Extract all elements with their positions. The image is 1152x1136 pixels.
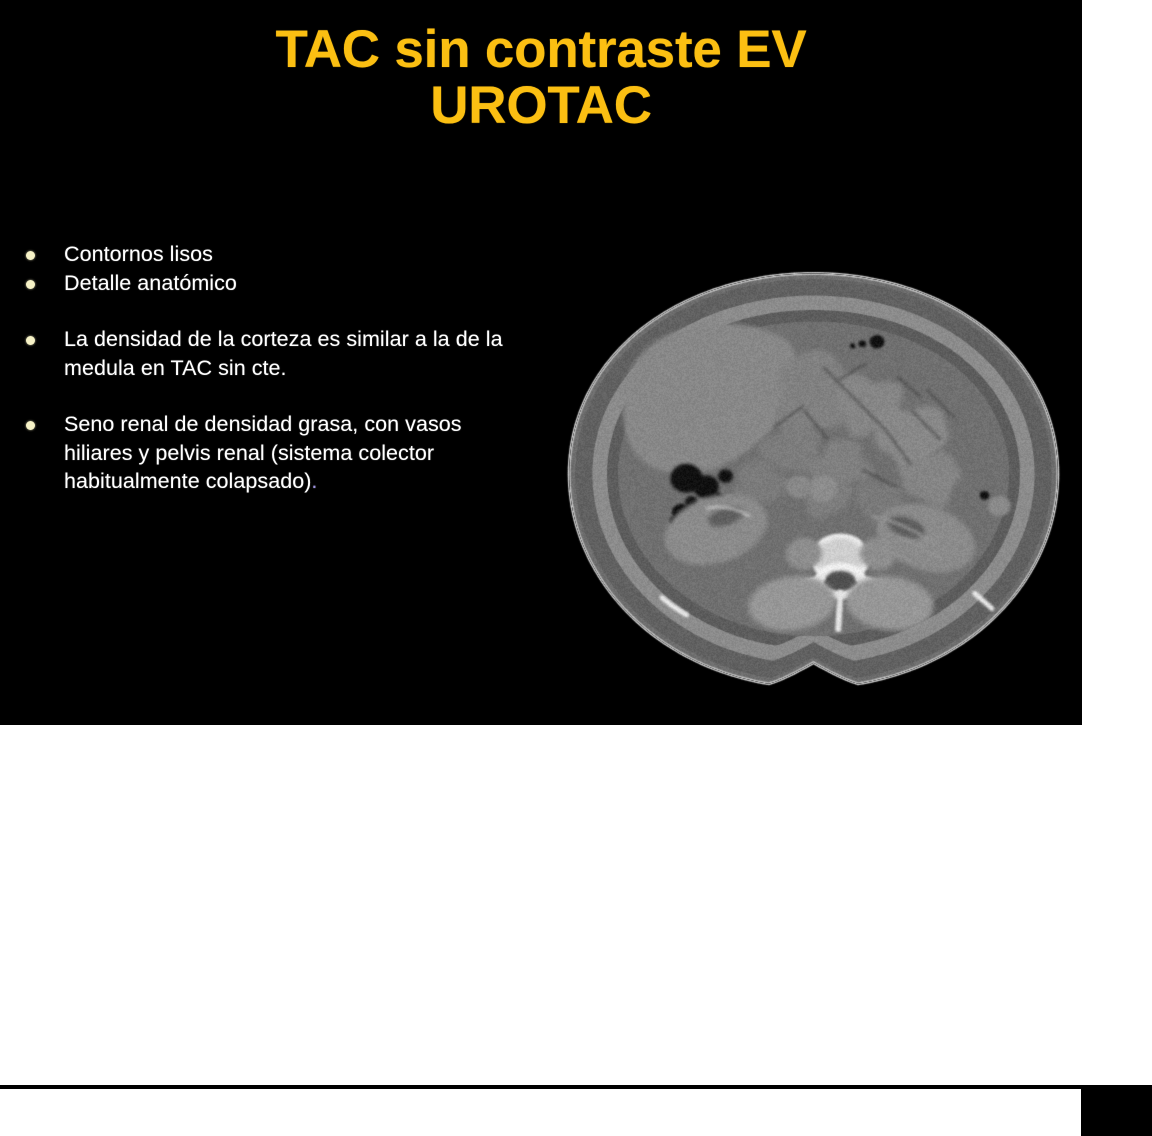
bullet-text-tail: . [311,469,317,493]
bullet-text: La densidad de la corteza es similar a l… [64,327,503,380]
page-lower-area [0,725,1082,1085]
bullet-text: Contornos lisos [64,242,213,266]
list-spacer [0,382,520,410]
slide-title: TAC sin contraste EV UROTAC [0,22,1082,134]
bullet-list: Contornos lisos Detalle anatómico La den… [0,240,520,496]
slide-canvas: TAC sin contraste EV UROTAC Contornos li… [0,0,1082,725]
bullet-text: Detalle anatómico [64,271,237,295]
title-line-1: TAC sin contraste EV [0,22,1082,78]
bullet-item-seno-renal: Seno renal de densidad grasa, con vasos … [0,410,520,496]
bullet-dot-icon [26,421,35,430]
bullet-dot-icon [26,280,35,289]
bottom-right-corner-block [1081,1089,1152,1136]
bullet-dot-icon [26,251,35,260]
title-line-2: UROTAC [0,78,1082,134]
bullet-item-detalle: Detalle anatómico [0,269,520,298]
bullet-item-contornos: Contornos lisos [0,240,520,269]
ct-scan-image [545,248,1082,700]
bottom-horizontal-rule [0,1085,1152,1089]
list-spacer [0,297,520,325]
bullet-text: Seno renal de densidad grasa, con vasos … [64,412,462,493]
bullet-dot-icon [26,336,35,345]
page-right-margin [1082,0,1152,1085]
bullet-item-densidad: La densidad de la corteza es similar a l… [0,325,520,382]
ct-scan-figure [545,248,1082,700]
